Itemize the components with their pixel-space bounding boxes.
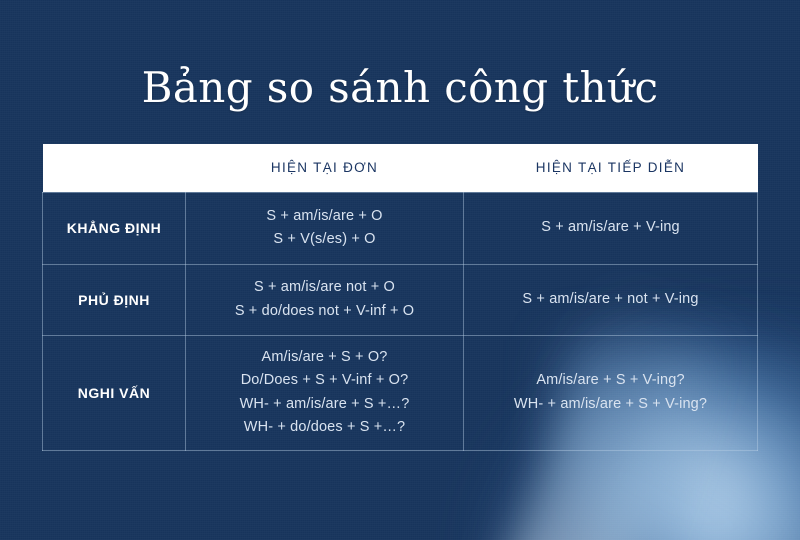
- cell-interrogative-continuous: Am/is/are + S + V-ing? WH- + am/is/are +…: [464, 335, 758, 450]
- cell-negative-continuous: S + am/is/are + not + V-ing: [464, 264, 758, 335]
- slide-content: Bảng so sánh công thức HIỆN TẠI ĐƠN HIỆN…: [0, 0, 800, 540]
- table-header-row: HIỆN TẠI ĐƠN HIỆN TẠI TIẾP DIỄN: [43, 144, 758, 192]
- cell-affirmative-simple: S + am/is/are + O S + V(s/es) + O: [186, 192, 464, 264]
- table-header: HIỆN TẠI ĐƠN HIỆN TẠI TIẾP DIỄN: [43, 144, 758, 192]
- column-header-simple: HIỆN TẠI ĐƠN: [186, 144, 464, 192]
- table-row: PHỦ ĐỊNH S + am/is/are not + O S + do/do…: [43, 264, 758, 335]
- formula-line: WH- + am/is/are + S + V-ing?: [474, 393, 747, 416]
- formula-line: WH- + do/does + S +…?: [196, 416, 453, 439]
- formula-list: S + am/is/are not + O S + do/does not + …: [196, 276, 453, 323]
- comparison-table-container: HIỆN TẠI ĐƠN HIỆN TẠI TIẾP DIỄN KHẲNG ĐỊ…: [42, 144, 757, 449]
- page-title: Bảng so sánh công thức: [0, 64, 800, 112]
- formula-list: S + am/is/are + O S + V(s/es) + O: [196, 205, 453, 252]
- formula-line: S + V(s/es) + O: [196, 228, 453, 251]
- row-label-affirmative: KHẲNG ĐỊNH: [43, 192, 186, 264]
- formula-line: S + do/does not + V-inf + O: [196, 300, 453, 323]
- formula-line: Am/is/are + S + O?: [196, 346, 453, 369]
- formula-list: Am/is/are + S + V-ing? WH- + am/is/are +…: [474, 369, 747, 416]
- formula-list: S + am/is/are + V-ing: [474, 216, 747, 239]
- table-corner-cell: [43, 144, 186, 192]
- formula-line: Am/is/are + S + V-ing?: [474, 369, 747, 392]
- row-label-negative: PHỦ ĐỊNH: [43, 264, 186, 335]
- cell-negative-simple: S + am/is/are not + O S + do/does not + …: [186, 264, 464, 335]
- formula-line: S + am/is/are + V-ing: [474, 216, 747, 239]
- table-body: KHẲNG ĐỊNH S + am/is/are + O S + V(s/es)…: [43, 192, 758, 450]
- formula-line: S + am/is/are + O: [196, 205, 453, 228]
- row-label-interrogative: NGHI VẤN: [43, 335, 186, 450]
- table-row: NGHI VẤN Am/is/are + S + O? Do/Does + S …: [43, 335, 758, 450]
- cell-interrogative-simple: Am/is/are + S + O? Do/Does + S + V-inf +…: [186, 335, 464, 450]
- formula-line: S + am/is/are not + O: [196, 276, 453, 299]
- formula-list: S + am/is/are + not + V-ing: [474, 288, 747, 311]
- formula-list: Am/is/are + S + O? Do/Does + S + V-inf +…: [196, 346, 453, 440]
- cell-affirmative-continuous: S + am/is/are + V-ing: [464, 192, 758, 264]
- table-row: KHẲNG ĐỊNH S + am/is/are + O S + V(s/es)…: [43, 192, 758, 264]
- comparison-table: HIỆN TẠI ĐƠN HIỆN TẠI TIẾP DIỄN KHẲNG ĐỊ…: [42, 144, 758, 451]
- column-header-continuous: HIỆN TẠI TIẾP DIỄN: [464, 144, 758, 192]
- formula-line: WH- + am/is/are + S +…?: [196, 393, 453, 416]
- formula-line: S + am/is/are + not + V-ing: [474, 288, 747, 311]
- formula-line: Do/Does + S + V-inf + O?: [196, 369, 453, 392]
